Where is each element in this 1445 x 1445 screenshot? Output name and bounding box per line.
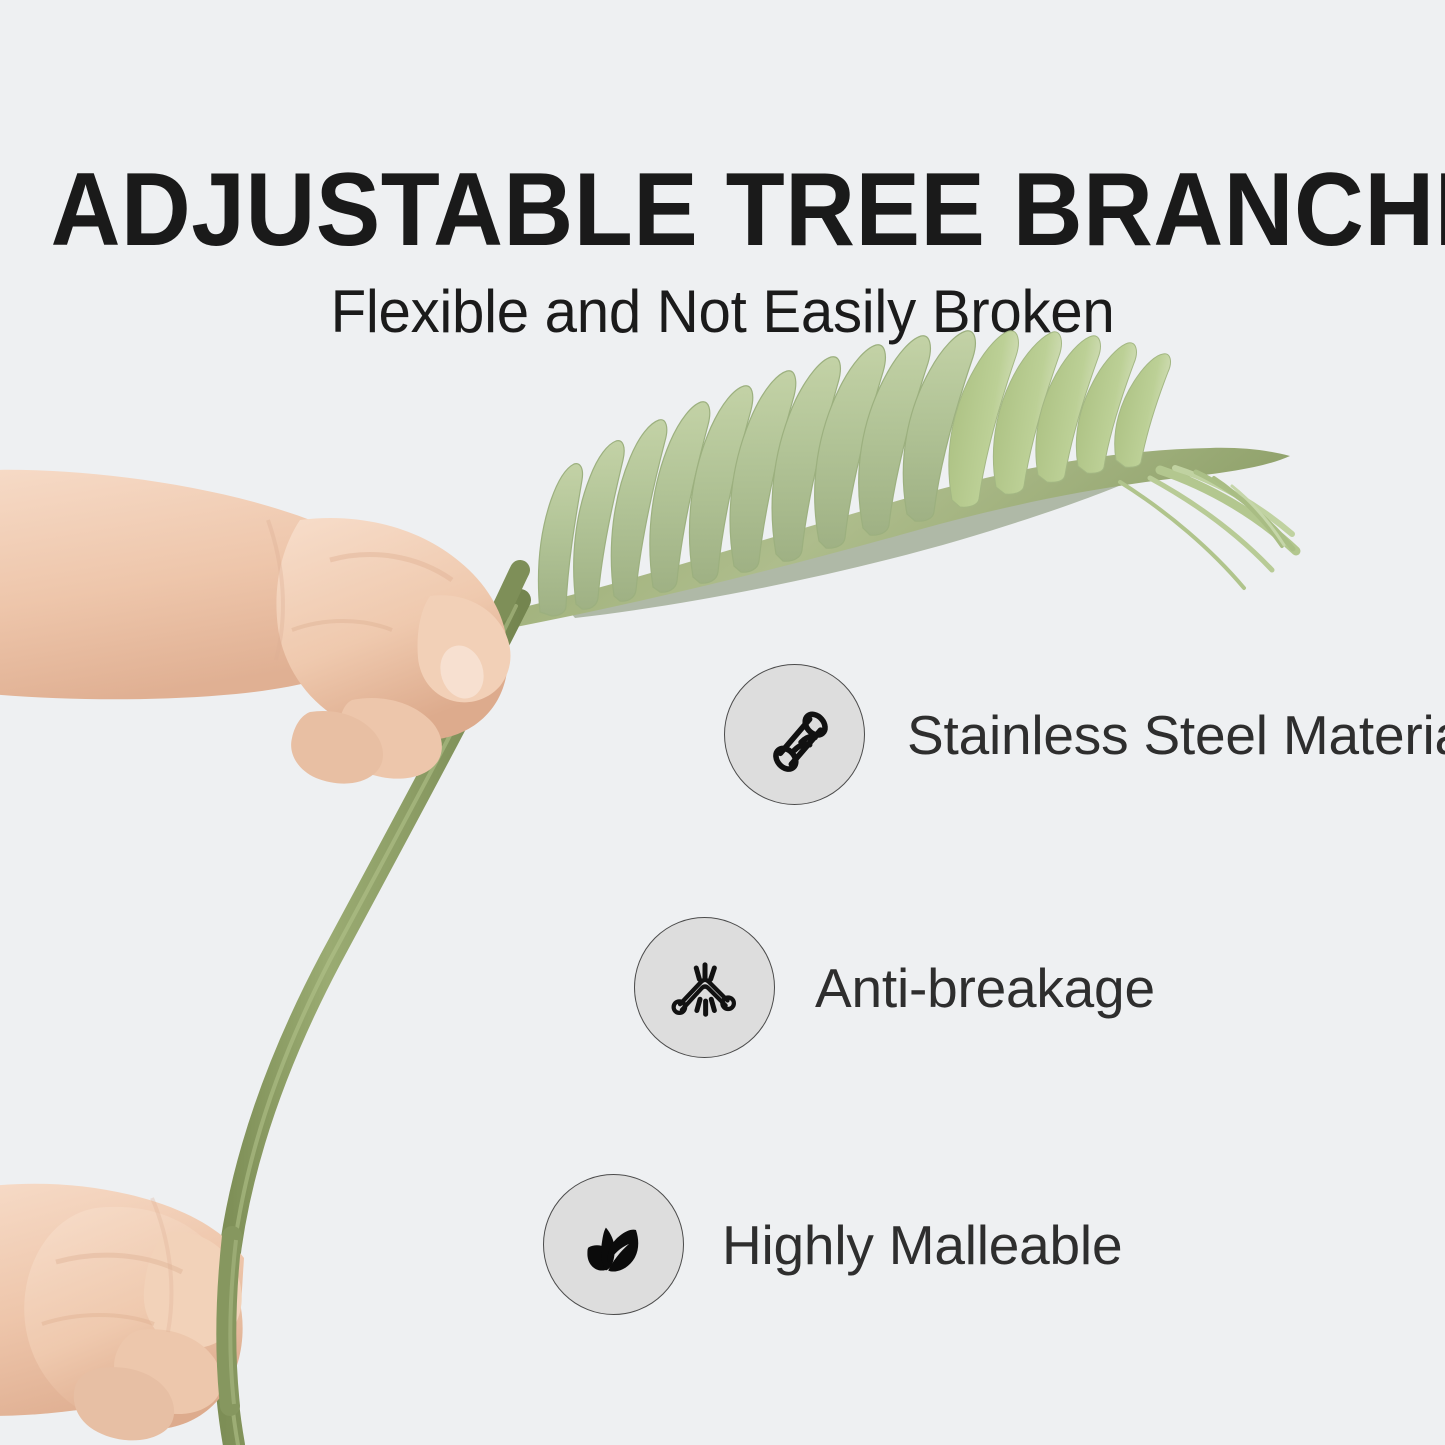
steel-rod-icon [756,696,834,774]
feature-label: Highly Malleable [722,1213,1122,1277]
bending-rod-icon [665,948,745,1028]
feature-item-highly-malleable: Highly Malleable [543,1174,1122,1315]
feature-label: Anti-breakage [815,956,1155,1020]
feature-item-stainless-steel: Stainless Steel Material [724,664,1445,805]
feature-label: Stainless Steel Material [907,703,1445,767]
feature-icon-circle [634,917,775,1058]
product-feature-banner: ADJUSTABLE TREE BRANCHES Flexible and No… [0,0,1445,1445]
feature-icon-circle [543,1174,684,1315]
feature-list: Stainless Steel Material [0,0,1445,1445]
leaves-icon [577,1208,651,1282]
feature-icon-circle [724,664,865,805]
feature-item-anti-breakage: Anti-breakage [634,917,1155,1058]
